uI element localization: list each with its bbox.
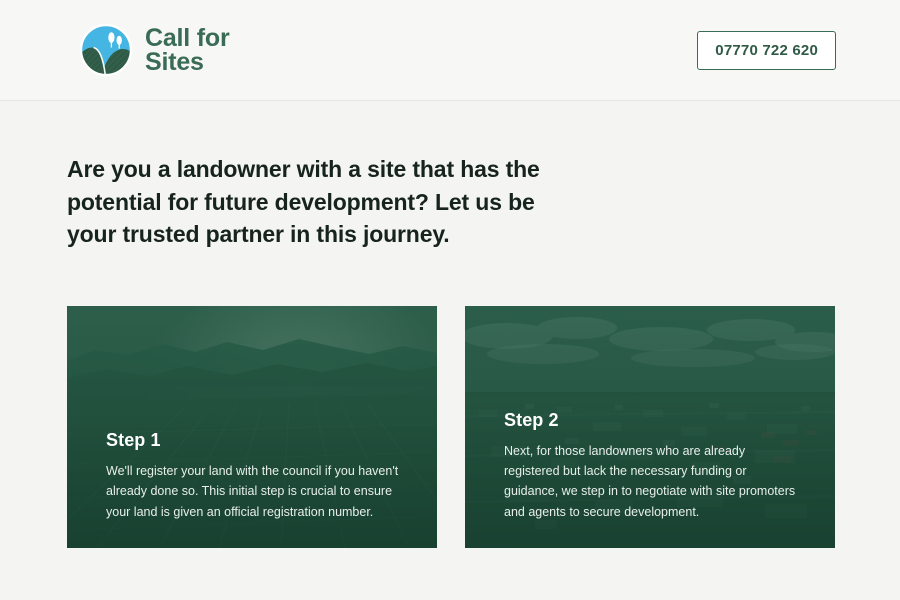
brand-name-line-2: Sites [145,50,230,74]
phone-number-button[interactable]: 07770 722 620 [697,31,836,70]
step-card-1[interactable]: Step 1 We'll register your land with the… [67,306,437,548]
step-card-2-description: Next, for those landowners who are alrea… [504,441,804,522]
hills-trees-circle-logo-icon [78,22,134,78]
brand-name-line-1: Call for [145,26,230,50]
page-headline: Are you a landowner with a site that has… [67,101,557,251]
brand-name: Call for Sites [145,26,230,75]
step-card-1-title: Step 1 [106,430,411,451]
step-card-2-title: Step 2 [504,410,809,431]
main-content: Are you a landowner with a site that has… [0,101,900,600]
site-header: Call for Sites 07770 722 620 [0,0,900,101]
step-card-2-copy: Step 2 Next, for those landowners who ar… [504,410,809,522]
brand-logo-link[interactable]: Call for Sites [78,22,230,78]
step-card-2[interactable]: Step 2 Next, for those landowners who ar… [465,306,835,548]
steps-grid: Step 1 We'll register your land with the… [67,306,836,548]
step-card-1-copy: Step 1 We'll register your land with the… [106,430,411,522]
step-card-1-description: We'll register your land with the counci… [106,461,406,522]
